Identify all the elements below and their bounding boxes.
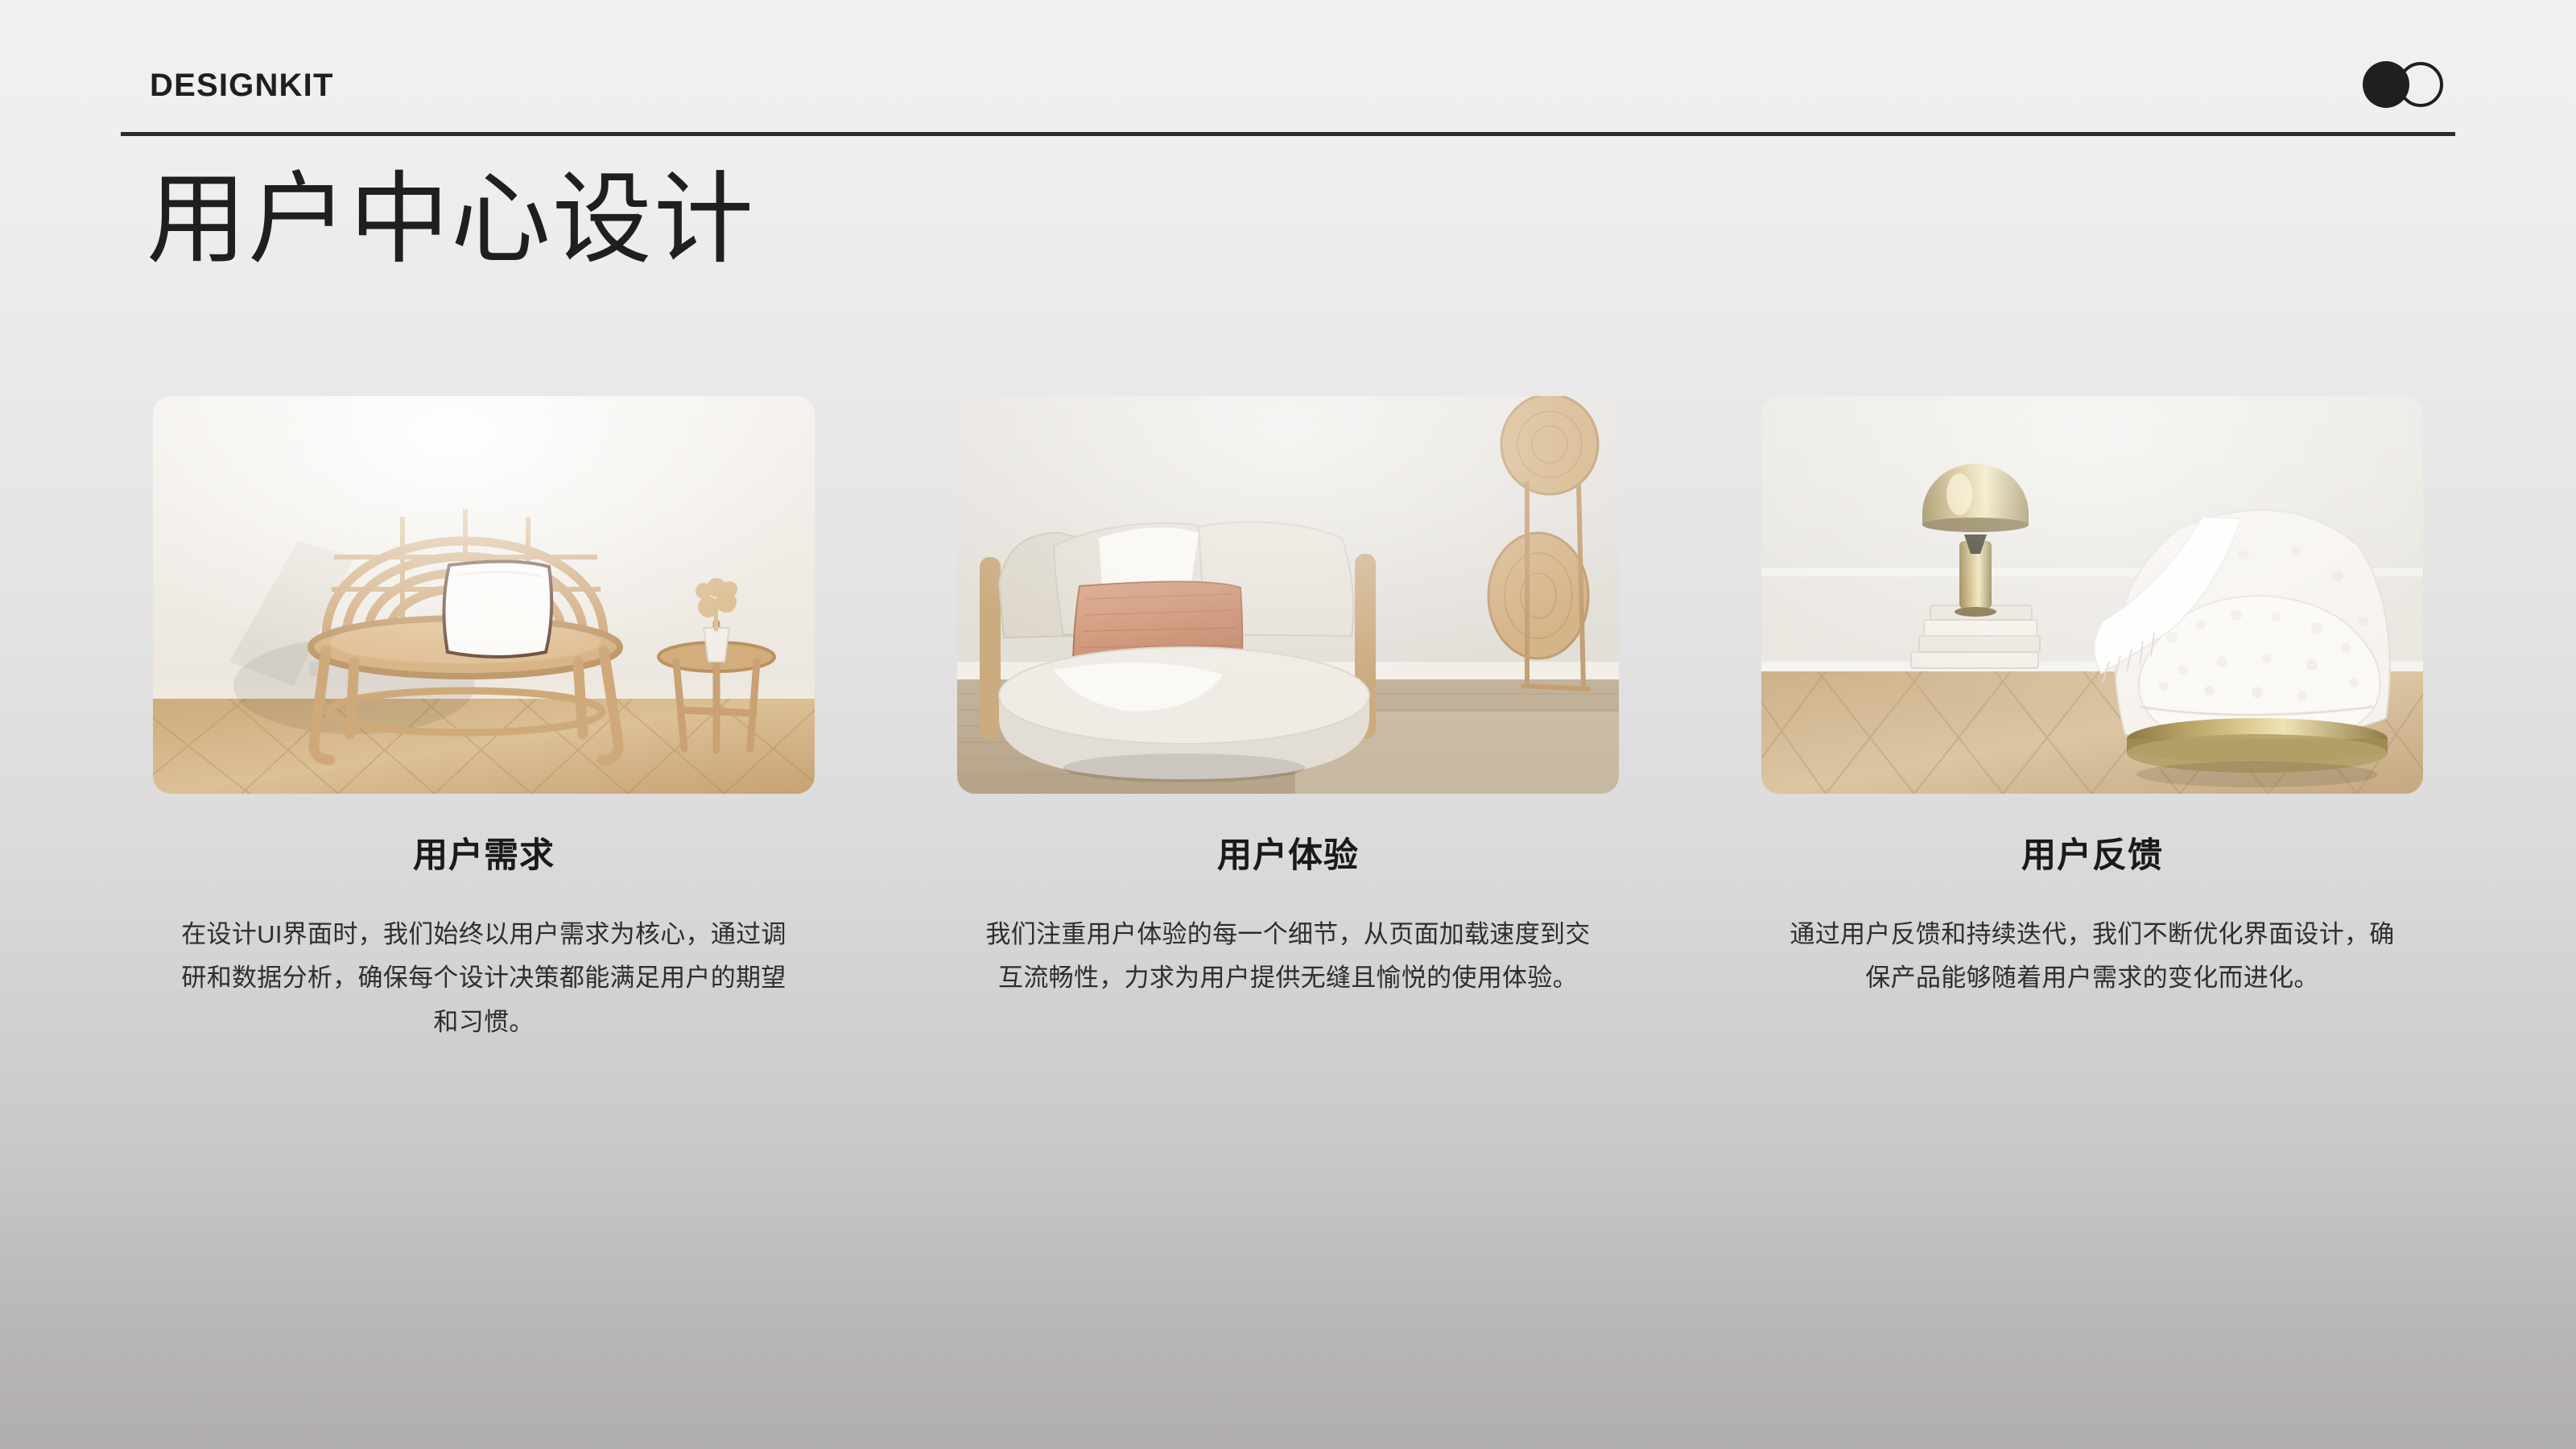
boucle-chair-lamp-illustration — [1761, 396, 2423, 794]
round-armchair-illustration — [957, 396, 1619, 794]
card-title: 用户体验 — [957, 828, 1619, 877]
rattan-chair-illustration — [153, 396, 815, 794]
page-header: DESIGNKIT — [121, 48, 2455, 137]
brand-logo: DESIGNKIT — [150, 69, 334, 101]
feature-card: 用户体验 我们注重用户体验的每一个细节，从页面加载速度到交互流畅性，力求为用户提… — [957, 396, 1619, 1044]
feature-card: 用户反馈 通过用户反馈和持续迭代，我们不断优化界面设计，确保产品能够随着用户需求… — [1761, 396, 2423, 1044]
boucle-chair-lamp-photo — [1761, 396, 2423, 794]
theme-toggle[interactable] — [2363, 61, 2447, 108]
header-divider — [121, 132, 2455, 136]
round-armchair-photo — [957, 396, 1619, 794]
rattan-chair-photo — [153, 396, 815, 794]
toggle-outline-circle-icon — [2398, 62, 2443, 107]
page-title: 用户中心设计 — [147, 158, 755, 283]
card-title: 用户反馈 — [1761, 828, 2423, 877]
card-body: 通过用户反馈和持续迭代，我们不断优化界面设计，确保产品能够随着用户需求的变化而进… — [1761, 913, 2423, 1001]
card-body: 在设计UI界面时，我们始终以用户需求为核心，通过调研和数据分析，确保每个设计决策… — [153, 913, 815, 1044]
card-body: 我们注重用户体验的每一个细节，从页面加载速度到交互流畅性，力求为用户提供无缝且愉… — [957, 913, 1619, 1001]
feature-card: 用户需求 在设计UI界面时，我们始终以用户需求为核心，通过调研和数据分析，确保每… — [153, 396, 815, 1044]
card-title: 用户需求 — [153, 828, 815, 877]
feature-card-grid: 用户需求 在设计UI界面时，我们始终以用户需求为核心，通过调研和数据分析，确保每… — [153, 396, 2423, 1044]
